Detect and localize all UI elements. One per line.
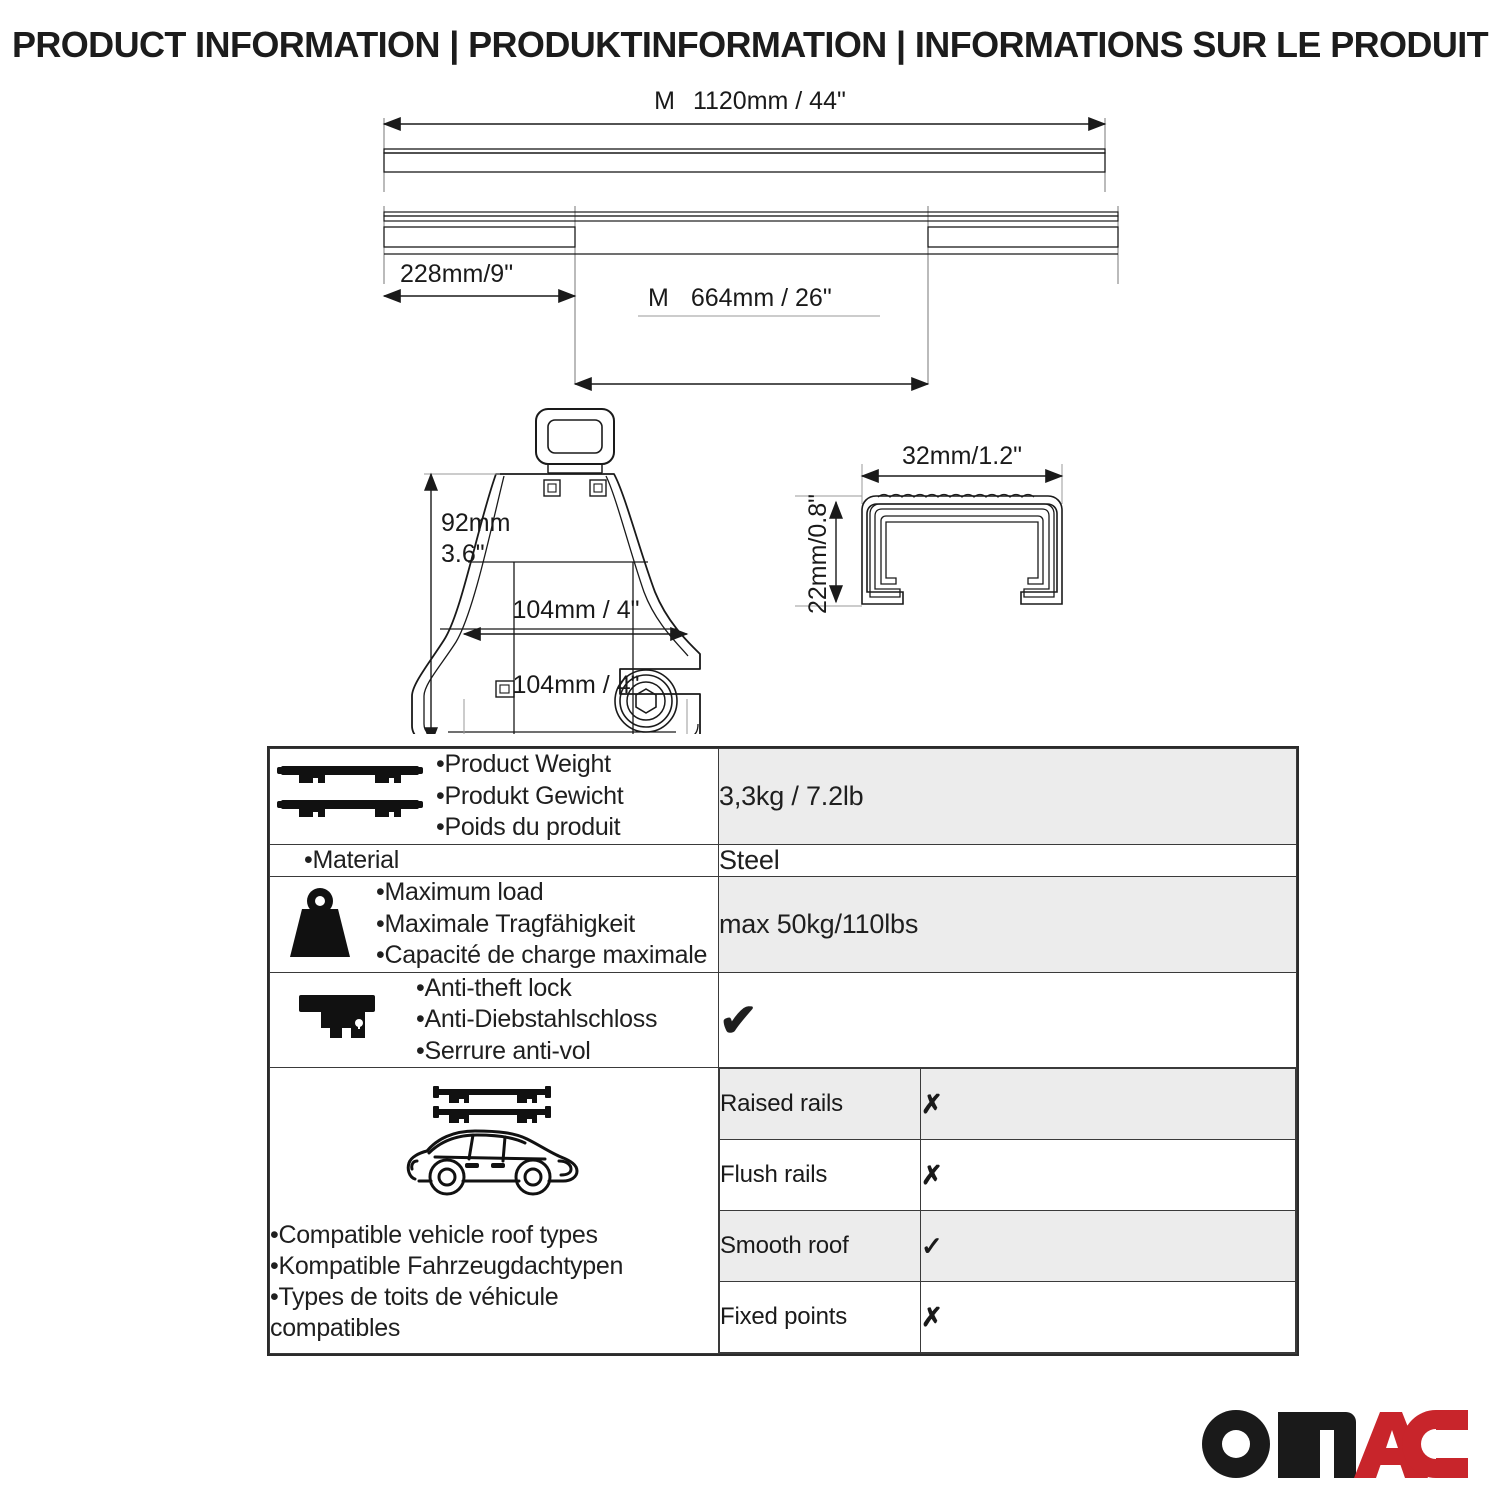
label-line: •Product Weight xyxy=(436,749,623,781)
lock-foot-icon xyxy=(270,987,410,1053)
roof-bars-icon xyxy=(270,760,430,832)
label-line: •Maximale Tragfähigkeit xyxy=(376,909,707,941)
value-anti-theft-lock: ✔ xyxy=(719,972,1297,1068)
dim-foot-offset-label: 228mm/9" xyxy=(400,260,513,288)
weight-icon xyxy=(270,885,370,963)
roof-type-mark: ✗ xyxy=(921,1069,1296,1140)
label-line: •Kompatible Fahrzeugdachtypen xyxy=(270,1251,718,1282)
roof-type-name: Raised rails xyxy=(720,1069,921,1140)
label-line: •Produkt Gewicht xyxy=(436,781,623,813)
table-row-compatibility: •Compatible vehicle roof types •Kompatib… xyxy=(270,1068,1297,1354)
dim-foot-width-label: 104mm / 4" xyxy=(513,671,640,699)
table-row-maximum-load: •Maximum load •Maximale Tragfähigkeit •C… xyxy=(270,877,1297,973)
roof-type-name: Smooth roof xyxy=(720,1211,921,1282)
value-product-weight: 3,3kg / 7.2lb xyxy=(719,749,1297,845)
dim-bar-spread-label: M664mm / 26" xyxy=(648,284,832,312)
technical-drawing: M1120mm / 44" 228mm/9" M664mm / 26" xyxy=(0,84,1500,734)
label-line: •Anti-Diebstahlschloss xyxy=(416,1004,657,1036)
label-material: •Material xyxy=(304,845,718,877)
page-title: PRODUCT INFORMATION | PRODUKTINFORMATION… xyxy=(0,24,1500,66)
car-with-rack-icon xyxy=(270,1077,718,1220)
profile-cross-section xyxy=(862,495,1062,605)
label-line: •Material xyxy=(304,845,718,877)
value-material: Steel xyxy=(719,844,1297,877)
roof-type-mark: ✓ xyxy=(921,1211,1296,1282)
label-line: •Serrure anti-vol xyxy=(416,1036,657,1068)
roof-type-row-smooth-roof: Smooth roof ✓ xyxy=(720,1211,1296,1282)
dim-foot-height-label-1: 92mm xyxy=(441,509,510,537)
roof-types-cell: Raised rails ✗ Flush rails ✗ Smooth roof… xyxy=(719,1068,1297,1354)
dim-foot-height-label-2: 3.6" xyxy=(441,540,485,568)
logo-letter-m xyxy=(1278,1412,1356,1478)
label-compatibility: •Compatible vehicle roof types •Kompatib… xyxy=(270,1220,718,1345)
roof-type-row-raised-rails: Raised rails ✗ xyxy=(720,1069,1296,1140)
roof-type-name: Fixed points xyxy=(720,1282,921,1353)
label-line: •Compatible vehicle roof types xyxy=(270,1220,718,1251)
specification-table: •Product Weight •Produkt Gewicht •Poids … xyxy=(267,746,1299,1356)
table-row-anti-theft-lock: •Anti-theft lock •Anti-Diebstahlschloss … xyxy=(270,972,1297,1068)
compatibility-label-cell: •Compatible vehicle roof types •Kompatib… xyxy=(270,1068,719,1354)
value-maximum-load: max 50kg/110lbs xyxy=(719,877,1297,973)
omac-logo xyxy=(1200,1406,1468,1482)
label-line: •Capacité de charge maximale xyxy=(376,940,707,972)
table-row-material: •Material Steel xyxy=(270,844,1297,877)
roof-type-row-flush-rails: Flush rails ✗ xyxy=(720,1140,1296,1211)
label-line: •Anti-theft lock xyxy=(416,973,657,1005)
label-line: •Types de toits de véhicule xyxy=(270,1282,718,1313)
label-line: •Poids du produit xyxy=(436,812,623,844)
logo-letter-c xyxy=(1402,1410,1468,1478)
check-icon: ✔ xyxy=(719,994,757,1046)
label-line: •Maximum load xyxy=(376,877,707,909)
dim-bar-length-label: M1120mm / 44" xyxy=(654,87,846,115)
label-anti-theft-lock: •Anti-theft lock •Anti-Diebstahlschloss … xyxy=(416,973,657,1068)
label-maximum-load: •Maximum load •Maximale Tragfähigkeit •C… xyxy=(376,877,707,972)
roof-type-row-fixed-points: Fixed points ✗ xyxy=(720,1282,1296,1353)
title-divider xyxy=(28,78,1472,79)
label-product-weight: •Product Weight •Produkt Gewicht •Poids … xyxy=(436,749,623,844)
logo-letter-o xyxy=(1202,1410,1270,1478)
roof-type-mark: ✗ xyxy=(921,1140,1296,1211)
dim-profile-width-label: 32mm/1.2" xyxy=(902,442,1022,470)
table-row-product-weight: •Product Weight •Produkt Gewicht •Poids … xyxy=(270,749,1297,845)
roof-type-mark: ✗ xyxy=(921,1282,1296,1353)
label-line: compatibles xyxy=(270,1313,718,1344)
dim-foot-width-text: 104mm / 4" xyxy=(513,596,640,624)
roof-type-name: Flush rails xyxy=(720,1140,921,1211)
